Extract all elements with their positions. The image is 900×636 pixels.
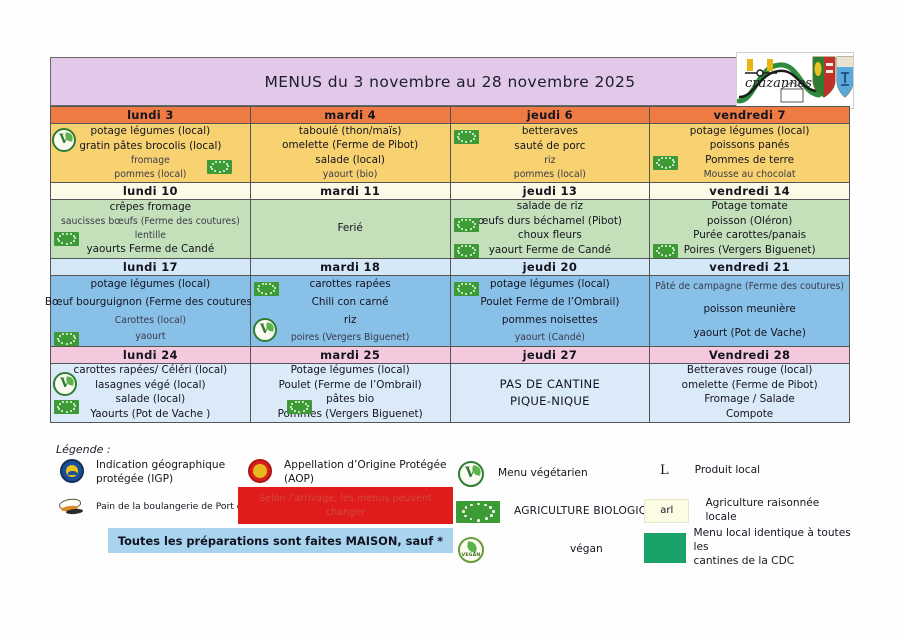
menu-item: PIQUE-NIQUE [492, 394, 608, 409]
bio-icon [653, 156, 678, 170]
menu-cell-lundi-17: potage légumes (local) Bœuf bourguignon … [51, 276, 251, 347]
menu-calendar: lundi 3 mardi 4 jeudi 6 vendredi 7 V pot… [50, 106, 850, 423]
warning-line-2: changer [320, 507, 371, 518]
menu-item: Potage légumes (local) [273, 364, 428, 378]
poster-title-bar: MENUS du 3 novembre au 28 novembre 2025 [50, 57, 850, 106]
week-1-day-headers: lundi 3 mardi 4 jeudi 6 vendredi 7 [51, 107, 850, 124]
menu-item: omelette (Ferme de Pibot) [264, 139, 436, 153]
menu-item: Fromage / Salade [686, 393, 812, 407]
day-header-lundi-24: lundi 24 [51, 347, 251, 364]
vegetarian-icon: V [253, 318, 277, 342]
week-3-menus: potage légumes (local) Bœuf bourguignon … [51, 276, 850, 347]
menu-item: taboulé (thon/maïs) [281, 125, 420, 139]
legend-item-aop: Appellation d’Origine Protégée (AOP) [248, 459, 447, 487]
week-4-day-headers: lundi 24 mardi 25 jeudi 27 Vendredi 28 [51, 347, 850, 364]
menu-item: gratin pâtes brocolis (local) [61, 140, 239, 154]
menu-item: Chili con carné [294, 296, 407, 310]
menu-item: omelette (Ferme de Pibot) [664, 379, 836, 393]
menu-item: salade (local) [98, 393, 204, 407]
vegetarian-icon: V [53, 372, 77, 396]
menu-item: yaourt (bio) [305, 169, 396, 181]
legend-title: Légende : [56, 443, 111, 456]
bio-icon [207, 160, 232, 174]
page-title: MENUS du 3 novembre au 28 novembre 2025 [264, 73, 635, 91]
menu-item: Bœuf bourguignon (Ferme des coutures) [41, 296, 260, 310]
menu-cell-lundi-10: crêpes fromage saucisses bœufs (Ferme de… [51, 200, 251, 259]
day-header-mardi-18: mardi 18 [250, 259, 450, 276]
homemade-notice-box: Toutes les préparations sont faites MAIS… [108, 528, 453, 553]
menu-cell-vendredi-21: Pâté de campagne (Ferme des coutures) po… [650, 276, 850, 347]
menu-item: Poulet (Ferme de l’Ombrail) [261, 379, 440, 393]
menu-item: PAS DE CANTINE [482, 377, 619, 392]
legend-arl-text: Agriculture raisonnée locale [705, 497, 852, 525]
week-3-day-headers: lundi 17 mardi 18 jeudi 20 vendredi 21 [51, 259, 850, 276]
menu-cell-jeudi-13: salade de riz œufs durs béchamel (Pibot)… [450, 200, 650, 259]
day-header-jeudi-20: jeudi 20 [450, 259, 650, 276]
legend-vegan-text: végan [570, 543, 603, 557]
menu-item: saucisses bœufs (Ferme des coutures) [43, 216, 258, 228]
bread-icon [58, 499, 86, 515]
menu-item: fromage [113, 155, 188, 167]
legend-vegetarian-text: Menu végétarien [498, 467, 588, 481]
menu-cell-mardi-11: Ferié [250, 200, 450, 259]
day-header-jeudi-27: jeudi 27 [450, 347, 650, 364]
bio-icon [456, 501, 500, 523]
legend-item-cdc: Menu local identique à toutes les cantin… [644, 527, 852, 569]
menu-item: pommes noisettes [484, 314, 616, 328]
menu-item: Purée carottes/panais [675, 229, 824, 243]
bio-icon [54, 400, 79, 414]
menu-items: taboulé (thon/maïs) omelette (Ferme de P… [251, 124, 450, 182]
menu-item: Poires (Vergers Biguenet) [666, 244, 834, 258]
menu-item: Ferié [319, 222, 380, 236]
menu-items: salade de riz œufs durs béchamel (Pibot)… [451, 200, 650, 258]
menu-cell-jeudi-20: potage légumes (local) Poulet Ferme de l… [450, 276, 650, 347]
menu-items: carottes rapées/ Céléri (local) lasagnes… [51, 364, 250, 422]
arl-swatch-icon: arl [644, 499, 689, 523]
menu-item: poires (Vergers Biguenet) [273, 332, 428, 344]
legend-item-arl: arl Agriculture raisonnée locale [644, 497, 852, 525]
menu-item: potage légumes (local) [73, 278, 229, 292]
menu-item: poissons panés [692, 139, 808, 153]
vegan-badge-label: VEGAN [460, 553, 482, 558]
menu-item: yaourt (Candé) [497, 332, 603, 344]
igp-icon [60, 459, 84, 483]
menu-item: sauté de porc [496, 140, 603, 154]
menu-item: Carottes (local) [97, 315, 204, 327]
menu-items: Betteraves rouge (local) omelette (Ferme… [650, 364, 849, 422]
day-header-vendredi-7: vendredi 7 [650, 107, 850, 124]
menu-item: carottes rapées/ Céléri (local) [56, 364, 246, 378]
menu-items: betteraves sauté de porc riz pommes (loc… [451, 124, 650, 182]
menu-item: lentille [117, 230, 184, 242]
menu-cell-vendredi-28: Betteraves rouge (local) omelette (Ferme… [650, 364, 850, 423]
arrival-warning-box: Selon l’arrivage, les menus peuvent chan… [238, 487, 453, 524]
menu-cell-mardi-4: taboulé (thon/maïs) omelette (Ferme de P… [250, 124, 450, 183]
legend-text-line: Menu local identique à toutes les [694, 527, 852, 555]
day-header-mardi-25: mardi 25 [250, 347, 450, 364]
legend-text-line: cantines de la CDC [694, 555, 852, 569]
vegan-icon: VEGAN [458, 537, 484, 563]
menu-item: yaourt [117, 331, 183, 343]
day-header-jeudi-6: jeudi 6 [450, 107, 650, 124]
day-header-vendredi-28: Vendredi 28 [650, 347, 850, 364]
vegetarian-icon: V [52, 128, 76, 152]
bio-icon [454, 244, 479, 258]
menu-cell-jeudi-6: betteraves sauté de porc riz pommes (loc… [450, 124, 650, 183]
legend-text-line: (AOP) [284, 473, 447, 487]
menu-item: Yaourts (Pot de Vache ) [72, 408, 228, 422]
menu-poster: MENUS du 3 novembre au 28 novembre 2025 … [0, 0, 900, 636]
menu-item: Mousse au chocolat [686, 169, 814, 181]
bio-icon [54, 332, 79, 346]
menu-item: Pâté de campagne (Ferme des coutures) [653, 281, 846, 293]
legend-local-text: Produit local [695, 464, 760, 478]
menu-item: potage légumes (local) [672, 125, 828, 139]
menu-item: salade (local) [297, 154, 403, 168]
menu-items: Potage légumes (local) Poulet (Ferme de … [251, 364, 450, 422]
menu-items: Pâté de campagne (Ferme des coutures) po… [650, 276, 849, 346]
vegetarian-icon: V [458, 461, 484, 487]
menu-item: pâtes bio [308, 393, 392, 407]
legend-igp-text: Indication géographique protégée (IGP) [96, 459, 225, 487]
menu-item: potage légumes (local) [73, 125, 229, 139]
week-1-menus: V potage légumes (local) gratin pâtes br… [51, 124, 850, 183]
day-header-lundi-10: lundi 10 [51, 183, 251, 200]
menu-item: poisson (Oléron) [689, 215, 810, 229]
day-header-mardi-4: mardi 4 [250, 107, 450, 124]
arrival-warning-text: Selon l’arrivage, les menus peuvent chan… [247, 492, 444, 520]
menu-item: potage légumes (local) [472, 278, 628, 292]
day-header-vendredi-14: vendredi 14 [650, 183, 850, 200]
menu-item: yaourt Ferme de Candé [471, 244, 629, 258]
menu-item: riz [526, 155, 573, 167]
menu-item: Compote [708, 408, 791, 422]
bio-icon [454, 282, 479, 296]
bio-icon [653, 244, 678, 258]
legend-text-line: Indication géographique [96, 459, 225, 473]
menu-item: pommes (local) [96, 169, 204, 181]
menu-items: carottes rapées Chili con carné riz poir… [251, 276, 450, 346]
legend-bio-text: AGRICULTURE BIOLOGIQUE [514, 505, 662, 519]
legend-item-vegan: VEGAN végan [458, 537, 603, 563]
legend-text-line: Appellation d’Origine Protégée [284, 459, 447, 473]
legend-item-local: L Produit local [660, 463, 760, 478]
cdc-swatch-icon [644, 533, 686, 563]
calendar-body: lundi 3 mardi 4 jeudi 6 vendredi 7 V pot… [51, 107, 850, 423]
menu-items: crêpes fromage saucisses bœufs (Ferme de… [51, 200, 250, 258]
menu-cell-vendredi-7: potage légumes (local) poissons panés Po… [650, 124, 850, 183]
menu-cell-mardi-18: V carottes rapées Chili con carné riz po… [250, 276, 450, 347]
menu-items: Ferié [251, 200, 450, 258]
week-2-day-headers: lundi 10 mardi 11 jeudi 13 vendredi 14 [51, 183, 850, 200]
legend-item-vegetarian: V Menu végétarien [458, 461, 588, 487]
day-header-mardi-11: mardi 11 [250, 183, 450, 200]
menu-item: betteraves [504, 125, 596, 139]
legend-item-bio: AGRICULTURE BIOLOGIQUE [456, 501, 662, 523]
menu-item: carottes rapées [292, 278, 409, 292]
week-4-menus: V carottes rapées/ Céléri (local) lasagn… [51, 364, 850, 423]
menu-cell-lundi-3: V potage légumes (local) gratin pâtes br… [51, 124, 251, 183]
menu-items: potage légumes (local) poissons panés Po… [650, 124, 849, 182]
bio-icon [454, 130, 479, 144]
menu-cell-mardi-25: Potage légumes (local) Poulet (Ferme de … [250, 364, 450, 423]
menu-item: Poulet Ferme de l’Ombrail) [462, 296, 637, 310]
menu-item: lasagnes végé (local) [77, 379, 223, 393]
menu-item: yaourts Ferme de Candé [69, 243, 233, 257]
logo-artwork: crazannes [737, 53, 853, 108]
day-header-vendredi-21: vendredi 21 [650, 259, 850, 276]
bio-icon [254, 282, 279, 296]
menu-item: salade de riz [499, 200, 601, 214]
menu-item: Betteraves rouge (local) [669, 364, 831, 378]
menu-item: yaourt (Pot de Vache) [675, 327, 824, 341]
legend-item-igp: Indication géographique protégée (IGP) [60, 459, 225, 487]
menu-item: Potage tomate [693, 200, 805, 214]
menu-items: PAS DE CANTINE PIQUE-NIQUE [451, 364, 650, 422]
menu-item: poisson meunière [685, 303, 813, 317]
menu-items: Potage tomate poisson (Oléron) Purée car… [650, 200, 849, 258]
aop-icon [248, 459, 272, 483]
menu-item: Pommes de terre [687, 154, 812, 168]
bio-icon [287, 400, 312, 414]
homemade-notice-text: Toutes les préparations sont faites MAIS… [118, 534, 443, 548]
local-letter-icon: L [660, 463, 669, 478]
crazannes-logo: crazannes [736, 52, 854, 109]
menu-item: œufs durs béchamel (Pibot) [460, 215, 640, 229]
menu-item: pommes (local) [496, 169, 604, 181]
week-2-menus: crêpes fromage saucisses bœufs (Ferme de… [51, 200, 850, 259]
legend-cdc-text: Menu local identique à toutes les cantin… [694, 527, 852, 569]
legend-aop-text: Appellation d’Origine Protégée (AOP) [284, 459, 447, 487]
day-header-jeudi-13: jeudi 13 [450, 183, 650, 200]
menu-cell-jeudi-27: PAS DE CANTINE PIQUE-NIQUE [450, 364, 650, 423]
menu-cell-lundi-24: V carottes rapées/ Céléri (local) lasagn… [51, 364, 251, 423]
bio-icon [454, 218, 479, 232]
day-header-lundi-17: lundi 17 [51, 259, 251, 276]
day-header-lundi-3: lundi 3 [51, 107, 251, 124]
menu-item: choux fleurs [500, 229, 600, 243]
bio-icon [54, 232, 79, 246]
menu-items: potage légumes (local) Poulet Ferme de l… [451, 276, 650, 346]
menu-item: riz [326, 314, 375, 328]
warning-line-1: Selon l’arrivage, les menus peuvent [253, 493, 438, 504]
menu-cell-vendredi-14: Potage tomate poisson (Oléron) Purée car… [650, 200, 850, 259]
menu-items: potage légumes (local) Bœuf bourguignon … [51, 276, 250, 346]
legend-text-line: protégée (IGP) [96, 473, 225, 487]
menu-item: crêpes fromage [92, 201, 209, 215]
